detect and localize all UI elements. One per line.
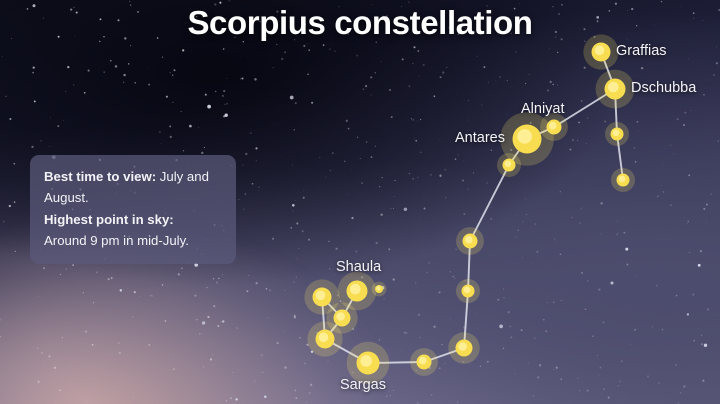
star-bend1 [456,227,484,255]
star-label-alniyat: Alniyat [521,101,565,117]
highest-point-label: Highest point in sky: [44,212,174,227]
star-label-sargas: Sargas [340,377,386,393]
star-label-dschubba: Dschubba [631,80,696,96]
star-tail_r2 [611,168,635,192]
highest-point-value-line: Around 9 pm in mid-July. [44,230,222,251]
best-time-label: Best time to view: [44,169,156,184]
constellation-link-layer [322,52,623,363]
page-title: Scorpius constellation [0,4,720,42]
star-label-graffias: Graffias [616,43,667,59]
highest-point-line: Highest point in sky: [44,209,222,230]
star-tail_r1 [605,122,629,146]
star-sigma [497,153,521,177]
star-bend2 [456,279,480,303]
star-bend4 [410,348,438,376]
star-label-antares: Antares [455,130,505,146]
star-tiny [372,282,387,297]
highest-point-value: Around 9 pm in mid-July. [44,233,189,248]
viewing-info-card: Best time to view: July and August. High… [30,155,236,264]
constellation-star-layer [304,34,635,384]
constellation-infographic: Scorpius constellation Best time to view… [0,0,720,404]
star-dschubba [596,70,635,109]
star-label-shaula: Shaula [336,259,381,275]
star-bend3 [448,332,479,363]
best-time-line: Best time to view: July and August. [44,166,222,209]
star-shaula [338,272,377,311]
